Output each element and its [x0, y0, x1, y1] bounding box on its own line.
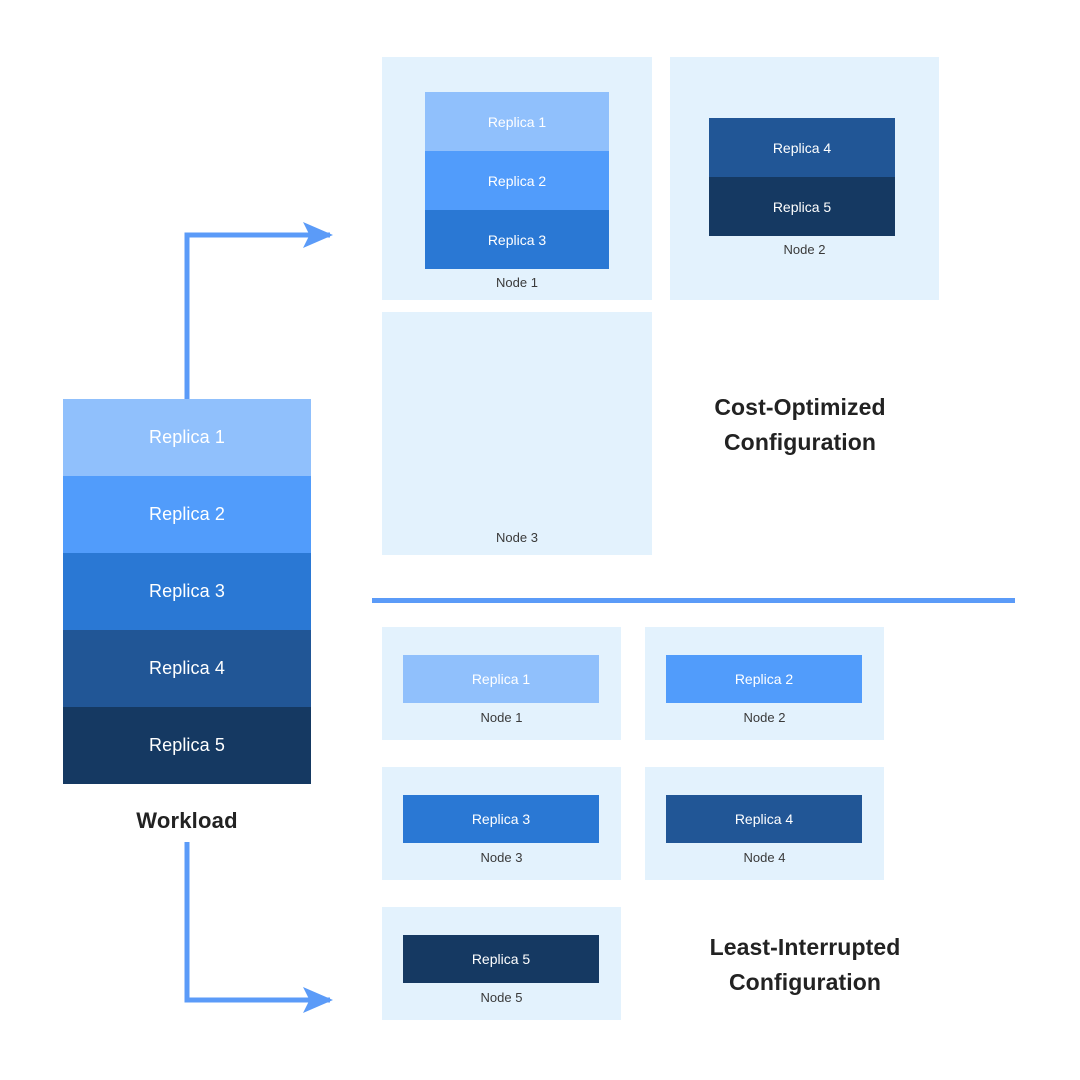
- workload-replica-5: Replica 5: [63, 707, 311, 784]
- workload-replica-3: Replica 3: [63, 553, 311, 630]
- least-interrupted-title-line-2: Configuration: [655, 965, 955, 1000]
- cost-optimized-title-line-2: Configuration: [655, 425, 945, 460]
- least-node-4-replica-4: Replica 4: [666, 795, 862, 843]
- cost-node-1-replica-1: Replica 1: [425, 92, 609, 151]
- cost-node-1-label: Node 1: [382, 275, 652, 290]
- least-node-4-label: Node 4: [645, 850, 884, 865]
- least-node-5-label: Node 5: [382, 990, 621, 1005]
- cost-node-1-replica-2: Replica 2: [425, 151, 609, 210]
- cost-node-3-label: Node 3: [382, 530, 652, 545]
- least-node-3-replica-3: Replica 3: [403, 795, 599, 843]
- least-node-5-card: Replica 5 Node 5: [382, 907, 621, 1020]
- cost-node-2-replica-5: Replica 5: [709, 177, 895, 236]
- cost-optimized-title: Cost-Optimized Configuration: [655, 390, 945, 460]
- least-node-2-replica-2: Replica 2: [666, 655, 862, 703]
- least-node-2-card: Replica 2 Node 2: [645, 627, 884, 740]
- least-node-5-replica-5: Replica 5: [403, 935, 599, 983]
- workload-stack: Replica 1 Replica 2 Replica 3 Replica 4 …: [63, 399, 311, 784]
- diagram-canvas: Replica 1 Replica 2 Replica 3 Replica 4 …: [0, 0, 1080, 1080]
- least-node-2-label: Node 2: [645, 710, 884, 725]
- workload-replica-2: Replica 2: [63, 476, 311, 553]
- least-node-4-card: Replica 4 Node 4: [645, 767, 884, 880]
- cost-node-1-replica-stack: Replica 1 Replica 2 Replica 3: [425, 92, 609, 269]
- section-divider: [372, 598, 1015, 603]
- least-node-3-label: Node 3: [382, 850, 621, 865]
- cost-node-2-replica-4: Replica 4: [709, 118, 895, 177]
- cost-node-1-replica-3: Replica 3: [425, 210, 609, 269]
- least-interrupted-title: Least-Interrupted Configuration: [655, 930, 955, 1000]
- cost-node-1-card: Replica 1 Replica 2 Replica 3 Node 1: [382, 57, 652, 300]
- workload-label: Workload: [63, 808, 311, 834]
- cost-node-2-replica-stack: Replica 4 Replica 5: [709, 118, 895, 236]
- least-node-1-replica-1: Replica 1: [403, 655, 599, 703]
- workload-replica-4: Replica 4: [63, 630, 311, 707]
- least-interrupted-title-line-1: Least-Interrupted: [655, 930, 955, 965]
- cost-optimized-title-line-1: Cost-Optimized: [655, 390, 945, 425]
- workload-replica-1: Replica 1: [63, 399, 311, 476]
- arrow-to-least-interrupted: [187, 842, 330, 1000]
- least-node-1-card: Replica 1 Node 1: [382, 627, 621, 740]
- cost-node-3-card: Node 3: [382, 312, 652, 555]
- arrow-to-cost-optimized: [187, 235, 330, 399]
- cost-node-2-label: Node 2: [670, 242, 939, 257]
- least-node-1-label: Node 1: [382, 710, 621, 725]
- least-node-3-card: Replica 3 Node 3: [382, 767, 621, 880]
- cost-node-2-card: Replica 4 Replica 5 Node 2: [670, 57, 939, 300]
